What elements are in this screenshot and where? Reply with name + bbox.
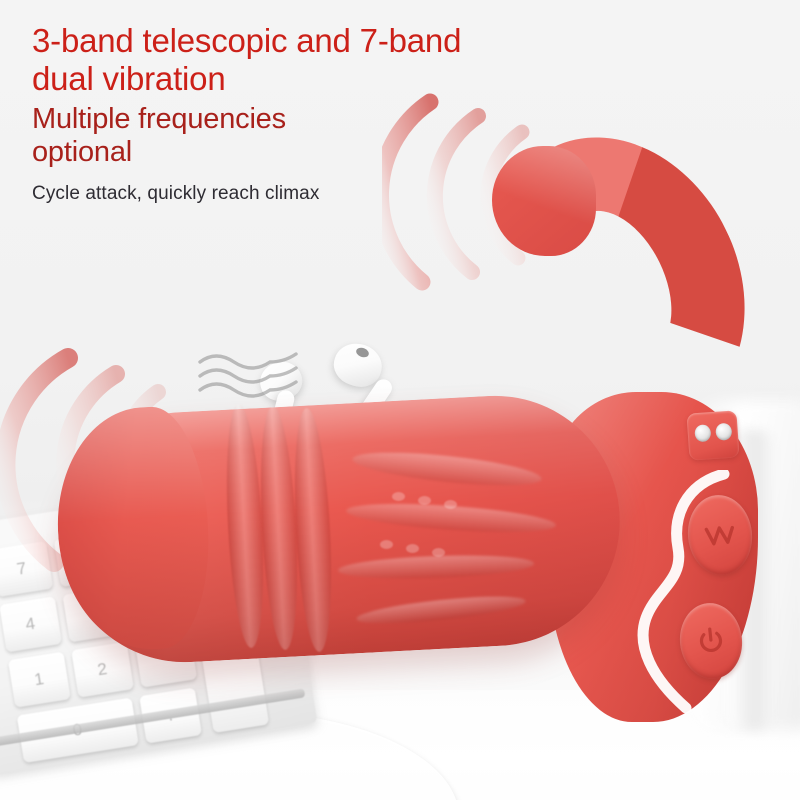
- tagline: Cycle attack, quickly reach climax: [32, 183, 592, 206]
- shaft-texture-dot: [406, 544, 419, 553]
- shaft-texture-dot: [380, 540, 393, 549]
- charging-pin: [694, 424, 711, 442]
- shaft-texture-dot: [432, 548, 445, 557]
- charging-pin: [715, 423, 732, 441]
- shaft-texture-dot: [418, 496, 431, 505]
- shaft-texture-dot: [444, 500, 457, 509]
- shaft-texture-dot: [392, 492, 405, 501]
- headline: 3-band telescopic and 7-band dual vibrat…: [32, 22, 592, 99]
- product-banner: 7 4 1 0 5 2 .: [0, 0, 800, 800]
- marketing-copy: 3-band telescopic and 7-band dual vibrat…: [32, 22, 592, 206]
- charging-contact-pad: [686, 410, 739, 460]
- subheadline: Multiple frequencies optional: [32, 103, 592, 170]
- power-icon: [695, 625, 728, 658]
- wave-icon: [702, 520, 739, 549]
